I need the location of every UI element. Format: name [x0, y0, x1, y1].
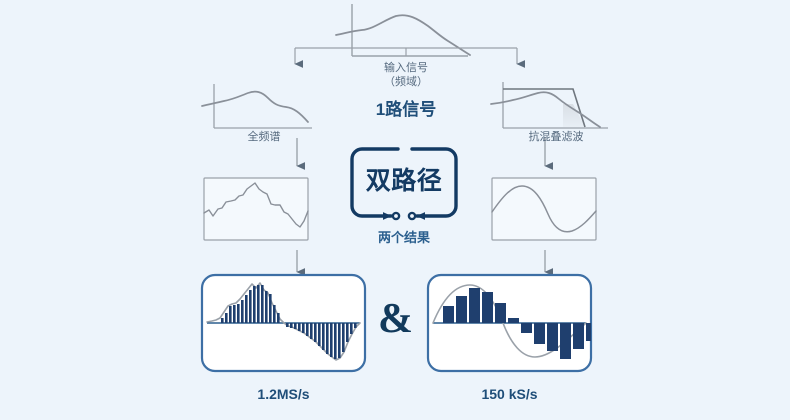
full-spectrum-label: 全频谱	[216, 131, 312, 145]
input-spectrum-curve	[336, 15, 470, 55]
bracket-dot-left	[393, 213, 399, 219]
high-rate-label: 1.2MS/s	[202, 386, 365, 404]
diagram-canvas: 输入信号 （频域） 1路信号 全频谱 抗混叠滤波 双路径 两个结果 & 1.2M…	[0, 0, 790, 420]
low-rate-label: 150 kS/s	[428, 386, 591, 404]
sampled-panel-low-rate	[428, 275, 591, 371]
full-spectrum-curve	[202, 92, 308, 122]
anti-alias-filter-label: 抗混叠滤波	[506, 131, 606, 145]
bracket-dot-right	[409, 213, 415, 219]
filtered-waveform-box	[492, 178, 596, 240]
input-signal-label-line1: 输入信号	[384, 62, 428, 74]
one-channel-label: 1路信号	[356, 99, 456, 120]
ampersand-separator: &	[378, 298, 413, 340]
wideband-waveform-box	[204, 178, 308, 240]
sampled-panel-high-rate	[202, 275, 365, 371]
filtered-waveform-frame	[492, 178, 596, 240]
input-signal-label: 输入信号 （频域）	[356, 62, 456, 90]
dual-path-badge-label: 双路径	[352, 166, 456, 197]
input-signal-label-line2: （频域）	[384, 76, 428, 88]
full-spectrum-chart	[202, 84, 312, 128]
two-results-label: 两个结果	[356, 230, 452, 246]
anti-alias-filter-chart	[491, 82, 608, 128]
